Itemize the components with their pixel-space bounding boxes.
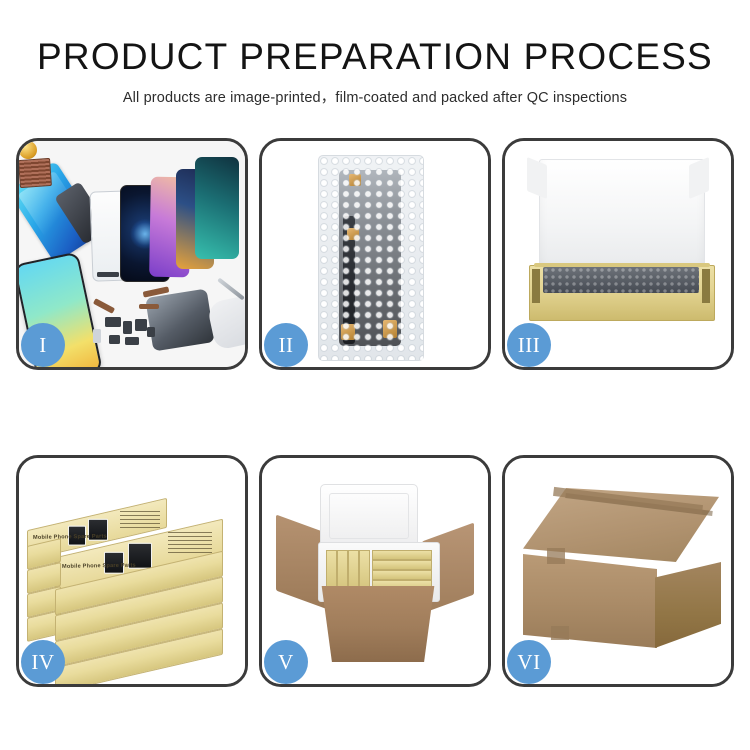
- process-step-card-3[interactable]: III: [502, 138, 734, 370]
- step-number-badge-6: VI: [507, 640, 551, 684]
- packed-box-graphic: [348, 550, 359, 592]
- flex-cable-graphic: [139, 304, 159, 309]
- process-step-card-2[interactable]: II: [259, 138, 491, 370]
- step-number-badge-4: IV: [21, 640, 65, 684]
- process-step-card-4[interactable]: Mobile Phone Spare Parts Mobile Phone Sp…: [16, 455, 248, 687]
- packed-box-graphic: [326, 550, 337, 592]
- process-step-card-1[interactable]: I: [16, 138, 248, 370]
- small-part-graphic: [135, 319, 147, 331]
- packed-box-graphic: [372, 560, 432, 570]
- box-print-lines-graphic: [168, 531, 212, 553]
- phone-backplate-graphic: [145, 288, 215, 351]
- step-number-badge-1: I: [21, 323, 65, 367]
- tweezer-graphic: [217, 278, 245, 301]
- carton-tab-graphic: [551, 626, 569, 640]
- packed-boxes-graphic: [326, 548, 430, 592]
- foam-lid-graphic: [320, 484, 418, 548]
- copper-contact-graphic: [349, 174, 361, 186]
- carton-body-graphic: [314, 586, 442, 662]
- box-lid-flap-left-graphic: [527, 157, 547, 199]
- small-part-graphic: [105, 317, 121, 327]
- bubble-wrap-bag-graphic: [318, 155, 424, 361]
- box-lid-flap-right-graphic: [689, 157, 709, 199]
- copper-contact-graphic: [383, 320, 397, 338]
- step-number-badge-5: V: [264, 640, 308, 684]
- carton-side-face-graphic: [655, 562, 721, 648]
- small-part-graphic: [93, 329, 101, 343]
- step-number-badge-3: III: [507, 323, 551, 367]
- logic-board-graphic: [19, 158, 52, 188]
- small-part-graphic: [125, 337, 139, 345]
- box-label-text: Mobile Phone Spare Parts: [33, 534, 107, 541]
- copper-contact-graphic: [341, 324, 355, 340]
- page-header: PRODUCT PREPARATION PROCESS All products…: [0, 0, 750, 107]
- process-step-card-6[interactable]: VI: [502, 455, 734, 687]
- packed-box-graphic: [372, 550, 432, 560]
- carton-tab-graphic: [547, 548, 565, 564]
- packed-box-graphic: [337, 550, 348, 592]
- process-step-grid: I II III: [16, 138, 734, 687]
- teal-phone-screen-graphic: [195, 157, 239, 259]
- dark-foam-padding-graphic: [543, 267, 699, 293]
- small-part-graphic: [97, 272, 119, 277]
- packed-box-graphic: [359, 550, 370, 592]
- step-number-badge-2: II: [264, 323, 308, 367]
- copper-contact-graphic: [347, 228, 359, 240]
- white-foam-lid-graphic: [539, 159, 705, 275]
- small-part-graphic: [109, 335, 120, 344]
- carton-front-face-graphic: [523, 554, 657, 648]
- box-corner-right-graphic: [702, 269, 710, 303]
- small-part-graphic: [147, 327, 155, 337]
- small-part-graphic: [123, 321, 132, 334]
- flex-cable-graphic: [93, 298, 115, 314]
- process-step-card-5[interactable]: V: [259, 455, 491, 687]
- page-title: PRODUCT PREPARATION PROCESS: [0, 38, 750, 77]
- box-corner-left-graphic: [532, 269, 540, 303]
- box-print-lines-graphic: [120, 508, 160, 528]
- packed-box-graphic: [372, 570, 432, 580]
- technician-hand-graphic: [206, 295, 245, 350]
- box-label-text: Mobile Phone Spare Parts: [62, 563, 136, 570]
- page-subtitle: All products are image-printed，film-coat…: [0, 86, 750, 107]
- speaker-coil-graphic: [19, 141, 37, 159]
